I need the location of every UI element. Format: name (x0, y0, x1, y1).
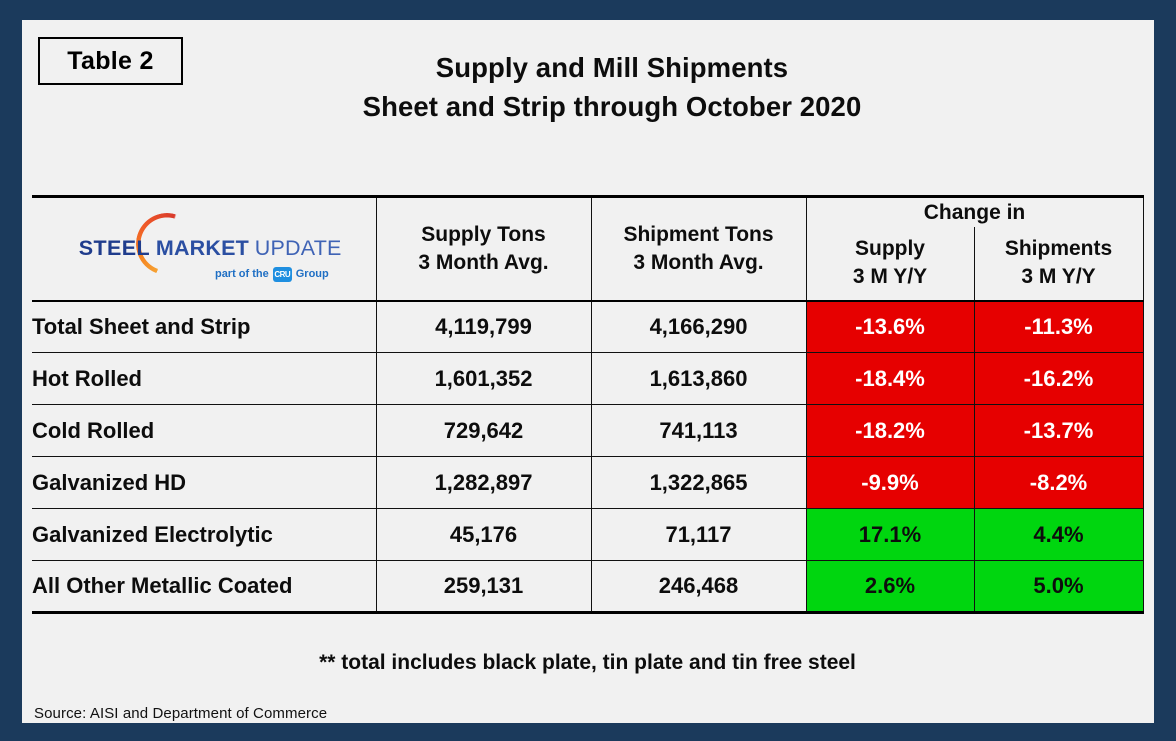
cell-change-supply: -9.9% (806, 457, 974, 509)
cell-change-supply: -18.2% (806, 405, 974, 457)
cell-supply-tons: 1,282,897 (376, 457, 591, 509)
cell-supply-tons: 1,601,352 (376, 353, 591, 405)
column-header-change-supply: Supply 3 M Y/Y (806, 227, 974, 301)
table-number-label: Table 2 (67, 47, 153, 76)
column-header-shipment-tons-line-2: 3 Month Avg. (592, 249, 806, 277)
table-row: Total Sheet and Strip4,119,7994,166,290-… (32, 301, 1143, 353)
cell-shipment-tons: 4,166,290 (591, 301, 806, 353)
logo-wordmark: STEEL MARKET UPDATE (79, 236, 329, 261)
page-title-line-2: Sheet and Strip through October 2020 (192, 87, 1032, 126)
table-page: Table 2 Supply and Mill Shipments Sheet … (22, 20, 1154, 723)
cell-change-shipments: -11.3% (974, 301, 1143, 353)
row-label: Hot Rolled (32, 353, 376, 405)
logo-word-steel: STEEL (79, 236, 150, 260)
cell-shipment-tons: 71,117 (591, 509, 806, 561)
logo-word-market: MARKET (156, 236, 249, 260)
table-header-group-row: STEEL MARKET UPDATE part of the CRU Grou… (32, 197, 1143, 227)
page-title: Supply and Mill Shipments Sheet and Stri… (192, 48, 1032, 126)
row-label: Galvanized Electrolytic (32, 509, 376, 561)
cell-change-supply: 17.1% (806, 509, 974, 561)
cell-change-supply: -13.6% (806, 301, 974, 353)
cell-change-shipments: 4.4% (974, 509, 1143, 561)
table-row: Hot Rolled1,601,3521,613,860-18.4%-16.2% (32, 353, 1143, 405)
column-header-shipment-tons: Shipment Tons 3 Month Avg. (591, 197, 806, 301)
column-header-supply-tons-line-1: Supply Tons (377, 221, 591, 249)
cell-change-shipments: -13.7% (974, 405, 1143, 457)
cell-supply-tons: 259,131 (376, 561, 591, 613)
cell-shipment-tons: 1,613,860 (591, 353, 806, 405)
source-note: Source: AISI and Department of Commerce (34, 705, 327, 722)
cell-shipment-tons: 246,468 (591, 561, 806, 613)
cell-change-shipments: -8.2% (974, 457, 1143, 509)
row-label: Total Sheet and Strip (32, 301, 376, 353)
cell-change-shipments: -16.2% (974, 353, 1143, 405)
column-header-change-supply-line-1: Supply (807, 235, 974, 263)
table-body: Total Sheet and Strip4,119,7994,166,290-… (32, 301, 1143, 613)
column-header-change-shipments: Shipments 3 M Y/Y (974, 227, 1143, 301)
cell-shipment-tons: 1,322,865 (591, 457, 806, 509)
column-header-change-supply-line-2: 3 M Y/Y (807, 263, 974, 291)
cell-supply-tons: 4,119,799 (376, 301, 591, 353)
cell-supply-tons: 45,176 (376, 509, 591, 561)
logo-sub-suffix: Group (296, 268, 329, 280)
table-head: STEEL MARKET UPDATE part of the CRU Grou… (32, 197, 1143, 301)
logo-subtitle: part of the CRU Group (215, 267, 329, 282)
table-row: All Other Metallic Coated259,131246,4682… (32, 561, 1143, 613)
page-title-line-1: Supply and Mill Shipments (192, 48, 1032, 87)
cell-supply-tons: 729,642 (376, 405, 591, 457)
table-footnote: ** total includes black plate, tin plate… (32, 651, 1143, 675)
logo-cell: STEEL MARKET UPDATE part of the CRU Grou… (32, 197, 376, 301)
cell-change-shipments: 5.0% (974, 561, 1143, 613)
cru-logo-icon: CRU (273, 267, 292, 282)
column-header-shipment-tons-line-1: Shipment Tons (592, 221, 806, 249)
row-label: Cold Rolled (32, 405, 376, 457)
row-label: All Other Metallic Coated (32, 561, 376, 613)
column-header-supply-tons: Supply Tons 3 Month Avg. (376, 197, 591, 301)
shipments-table: STEEL MARKET UPDATE part of the CRU Grou… (32, 195, 1144, 614)
table-row: Cold Rolled729,642741,113-18.2%-13.7% (32, 405, 1143, 457)
table-row: Galvanized Electrolytic45,17671,11717.1%… (32, 509, 1143, 561)
cell-change-supply: 2.6% (806, 561, 974, 613)
table-row: Galvanized HD1,282,8971,322,865-9.9%-8.2… (32, 457, 1143, 509)
logo-word-update: UPDATE (255, 236, 342, 260)
cell-change-supply: -18.4% (806, 353, 974, 405)
column-header-change-in-group: Change in (806, 197, 1143, 227)
table-number-badge: Table 2 (38, 37, 183, 85)
steel-market-update-logo: STEEL MARKET UPDATE part of the CRU Grou… (79, 210, 329, 288)
outer-frame: Table 2 Supply and Mill Shipments Sheet … (0, 0, 1176, 741)
column-header-supply-tons-line-2: 3 Month Avg. (377, 249, 591, 277)
cell-shipment-tons: 741,113 (591, 405, 806, 457)
row-label: Galvanized HD (32, 457, 376, 509)
column-header-change-shipments-line-1: Shipments (975, 235, 1143, 263)
logo-sub-prefix: part of the (215, 268, 269, 280)
title-block: Table 2 Supply and Mill Shipments Sheet … (22, 20, 1154, 195)
column-header-change-shipments-line-2: 3 M Y/Y (975, 263, 1143, 291)
